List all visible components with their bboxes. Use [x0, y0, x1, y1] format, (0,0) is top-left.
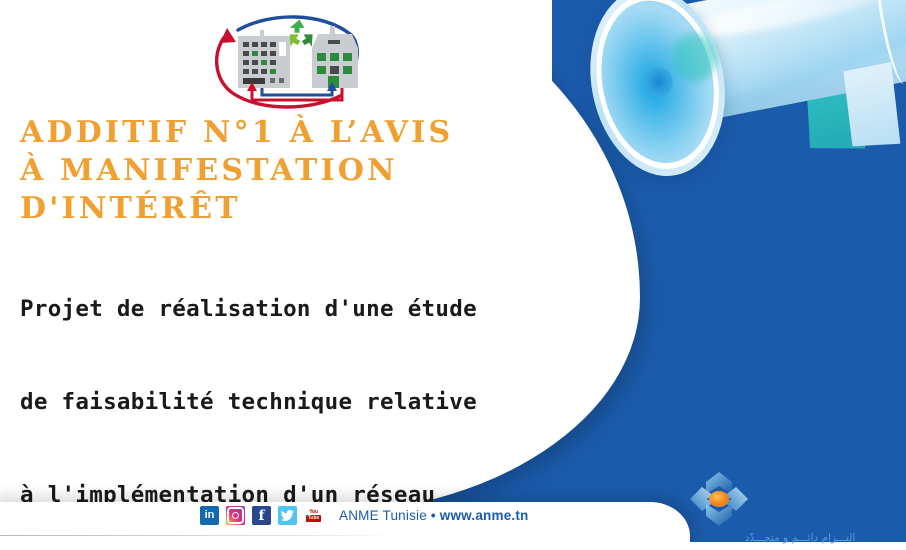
footer-separator: • — [431, 508, 436, 523]
anme-logo-text: الوكالــة الوطنيــة للتحكم في الطاقة ANM… — [758, 470, 870, 523]
footer-website[interactable]: www.anme.tn — [440, 508, 529, 523]
footer-contact-line: ANME Tunisie • www.anme.tn — [339, 508, 529, 523]
youtube-icon[interactable]: You Tube — [304, 506, 323, 525]
anme-logo-mark — [688, 470, 750, 528]
instagram-glyph — [227, 507, 244, 524]
headline-line-3: D'INTÉRÊT — [20, 190, 600, 228]
body-line-1: Projet de réalisation d'une étude — [20, 294, 730, 325]
facebook-glyph: f — [258, 509, 264, 523]
twitter-icon[interactable] — [278, 506, 297, 525]
poster-canvas: ADDITIF N°1 À L’AVIS À MANIFESTATION D'I… — [0, 0, 906, 550]
headline-line-1: ADDITIF N°1 À L’AVIS — [20, 114, 600, 152]
anme-arabic-line-1: الوكالــة الوطنيــة — [758, 473, 870, 487]
footer-divider — [0, 535, 392, 536]
twitter-bird-glyph — [281, 510, 294, 521]
body-line-2: de faisabilité technique relative — [20, 387, 730, 418]
linkedin-glyph: in — [205, 510, 215, 521]
instagram-icon[interactable] — [226, 506, 245, 525]
footer-handle: ANME Tunisie — [339, 508, 427, 523]
linkedin-icon[interactable]: in — [200, 506, 219, 525]
page-title: ADDITIF N°1 À L’AVIS À MANIFESTATION D'I… — [20, 114, 600, 228]
anme-acronym: ANME — [758, 501, 870, 523]
district-heating-cooling-network-icon — [200, 8, 375, 116]
anme-arabic-line-2: للتحكم في الطاقة — [758, 487, 870, 501]
youtube-bottom-text: Tube — [306, 515, 322, 522]
facebook-icon[interactable]: f — [252, 506, 271, 525]
footer-bar: in f You Tube ANME Tunisie • www.anme.tn — [200, 506, 529, 525]
anme-slogan: التـــزام دائـــم و متجـــدّد — [700, 532, 900, 544]
headline-line-2: À MANIFESTATION — [20, 152, 600, 190]
